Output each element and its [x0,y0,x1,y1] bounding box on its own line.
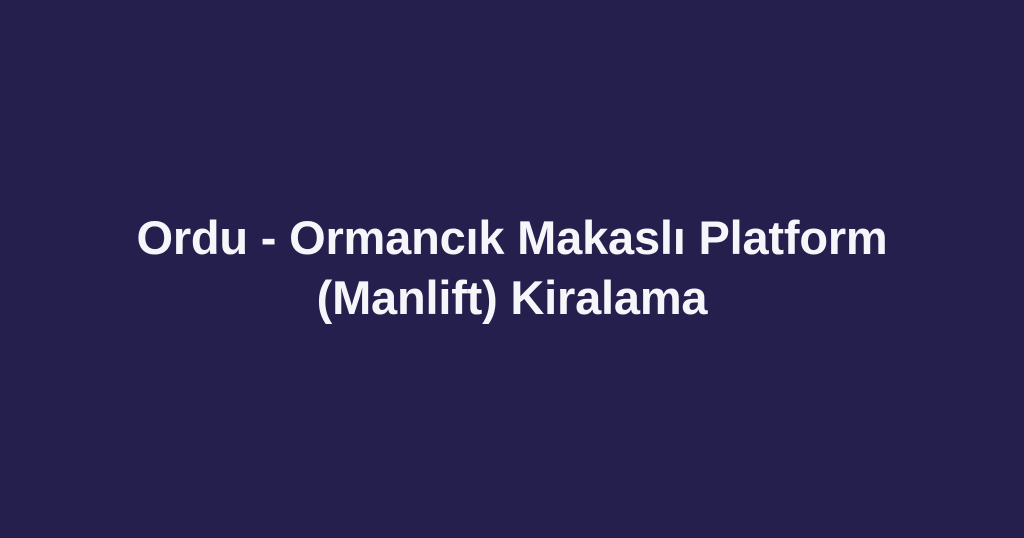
share-card: Ordu - Ormancık Makaslı Platform (Manlif… [0,0,1024,538]
headline-container: Ordu - Ormancık Makaslı Platform (Manlif… [82,208,942,328]
page-title: Ordu - Ormancık Makaslı Platform (Manlif… [82,208,942,328]
page-title-line-2: (Manlift) Kiralama [82,268,942,328]
page-title-line-1: Ordu - Ormancık Makaslı Platform [82,208,942,268]
